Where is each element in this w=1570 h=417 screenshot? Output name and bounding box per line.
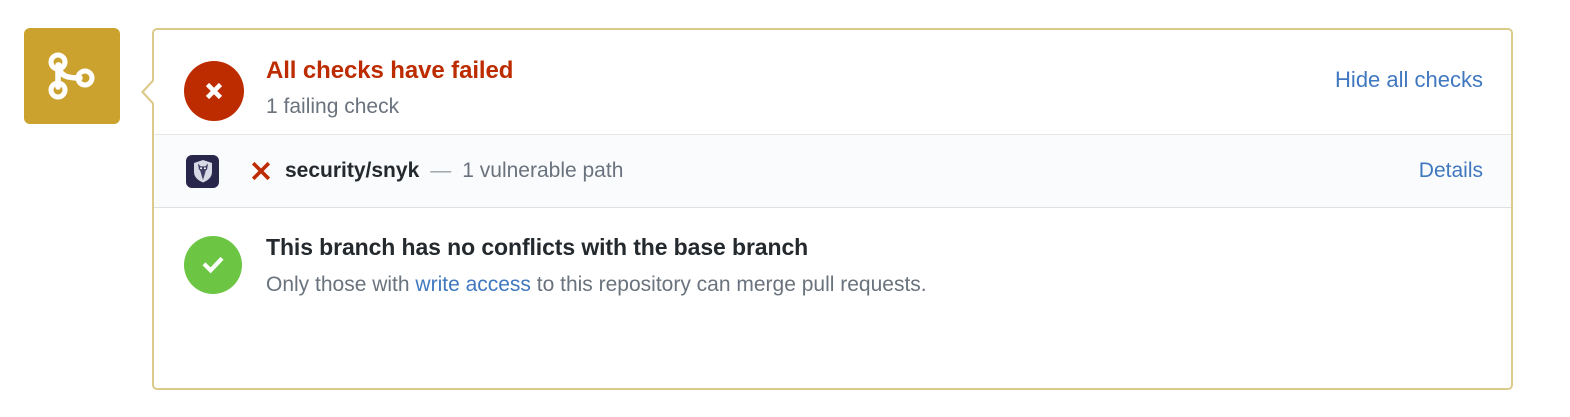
check-description: 1 vulnerable path: [462, 159, 623, 183]
checks-summary-header: All checks have failed 1 failing check H…: [154, 30, 1511, 134]
merge-state-subtitle-after: to this repository can merge pull reques…: [531, 273, 927, 296]
git-pull-request-icon: [47, 50, 97, 102]
snyk-avatar-icon: [186, 155, 219, 188]
check-context-name: security/snyk: [285, 159, 419, 183]
pull-request-status-badge: [24, 28, 120, 124]
check-separator: —: [430, 159, 451, 183]
check-circle-icon: [184, 236, 242, 294]
merge-state-title: This branch has no conflicts with the ba…: [266, 232, 1483, 262]
checks-summary-text: All checks have failed 1 failing check: [266, 56, 1483, 122]
checks-list: security/snyk — 1 vulnerable path Detail…: [154, 134, 1511, 208]
checks-status-subtitle: 1 failing check: [266, 92, 1483, 122]
branch-merge-state: This branch has no conflicts with the ba…: [154, 208, 1511, 326]
merge-state-subtitle-before: Only those with: [266, 273, 415, 296]
x-icon: [250, 160, 272, 182]
checks-status-title: All checks have failed: [266, 56, 1483, 86]
merge-state-subtitle: Only those with write access to this rep…: [266, 270, 1483, 300]
branch-merge-state-text: This branch has no conflicts with the ba…: [266, 232, 1483, 300]
x-circle-icon: [184, 61, 244, 121]
table-row[interactable]: security/snyk — 1 vulnerable path Detail…: [154, 135, 1511, 207]
pull-request-merge-status: All checks have failed 1 failing check H…: [0, 0, 1570, 417]
write-access-link[interactable]: write access: [415, 273, 531, 296]
hide-all-checks-link[interactable]: Hide all checks: [1335, 66, 1483, 94]
merge-status-card: All checks have failed 1 failing check H…: [152, 28, 1513, 390]
check-details-link[interactable]: Details: [1419, 159, 1483, 183]
